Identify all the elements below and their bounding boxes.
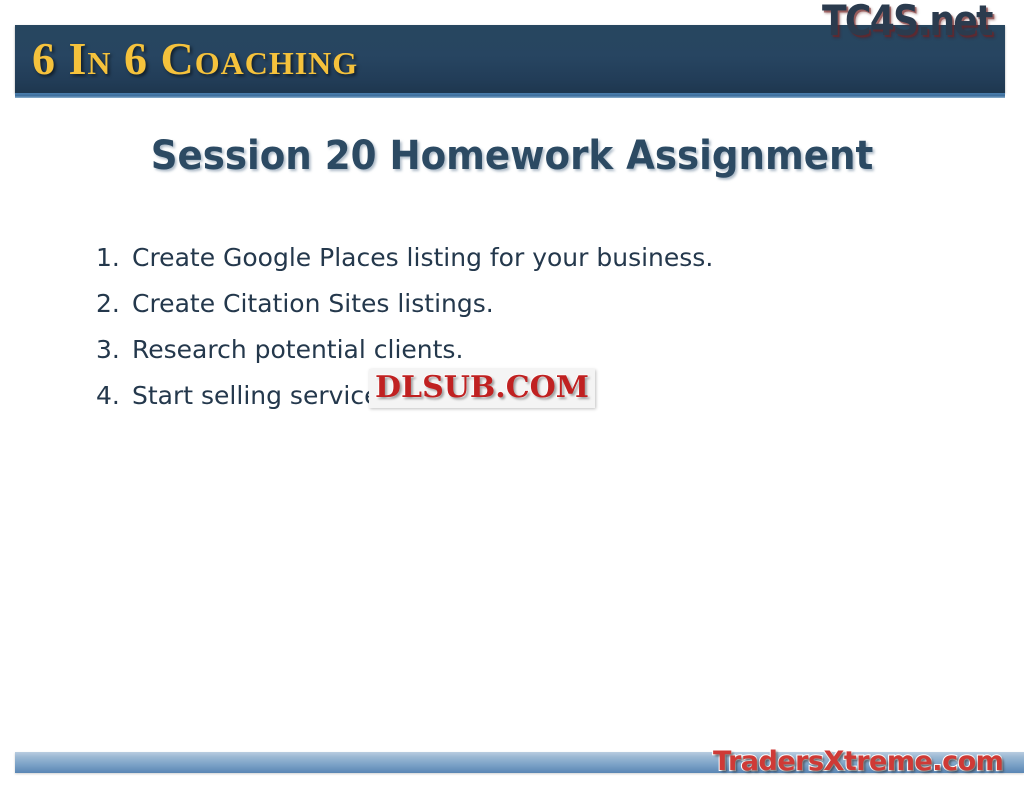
presentation-slide: 6 In 6 Coaching TC4S.net Session 20 Home… bbox=[0, 0, 1024, 791]
list-item-label: Start selling services. bbox=[132, 381, 400, 410]
list-item-label: Create Citation Sites listings. bbox=[132, 289, 494, 318]
list-item: 2.Create Citation Sites listings. bbox=[96, 284, 936, 330]
list-item: 1.Create Google Places listing for your … bbox=[96, 238, 936, 284]
header-accent-line bbox=[15, 93, 1005, 98]
tc4s-watermark: TC4S.net bbox=[822, 0, 992, 45]
tradersxtreme-watermark: TradersXtreme.com bbox=[713, 745, 1003, 779]
list-item-label: Research potential clients. bbox=[132, 335, 463, 364]
list-item-label: Create Google Places listing for your bu… bbox=[132, 243, 713, 272]
list-item-number: 3. bbox=[96, 330, 132, 370]
brand-title: 6 In 6 Coaching bbox=[32, 27, 358, 91]
list-item-number: 1. bbox=[96, 238, 132, 278]
dlsub-watermark: DLSUB.COM bbox=[369, 369, 595, 408]
page-title: Session 20 Homework Assignment bbox=[36, 133, 988, 179]
list-item-number: 2. bbox=[96, 284, 132, 324]
list-item-number: 4. bbox=[96, 376, 132, 416]
